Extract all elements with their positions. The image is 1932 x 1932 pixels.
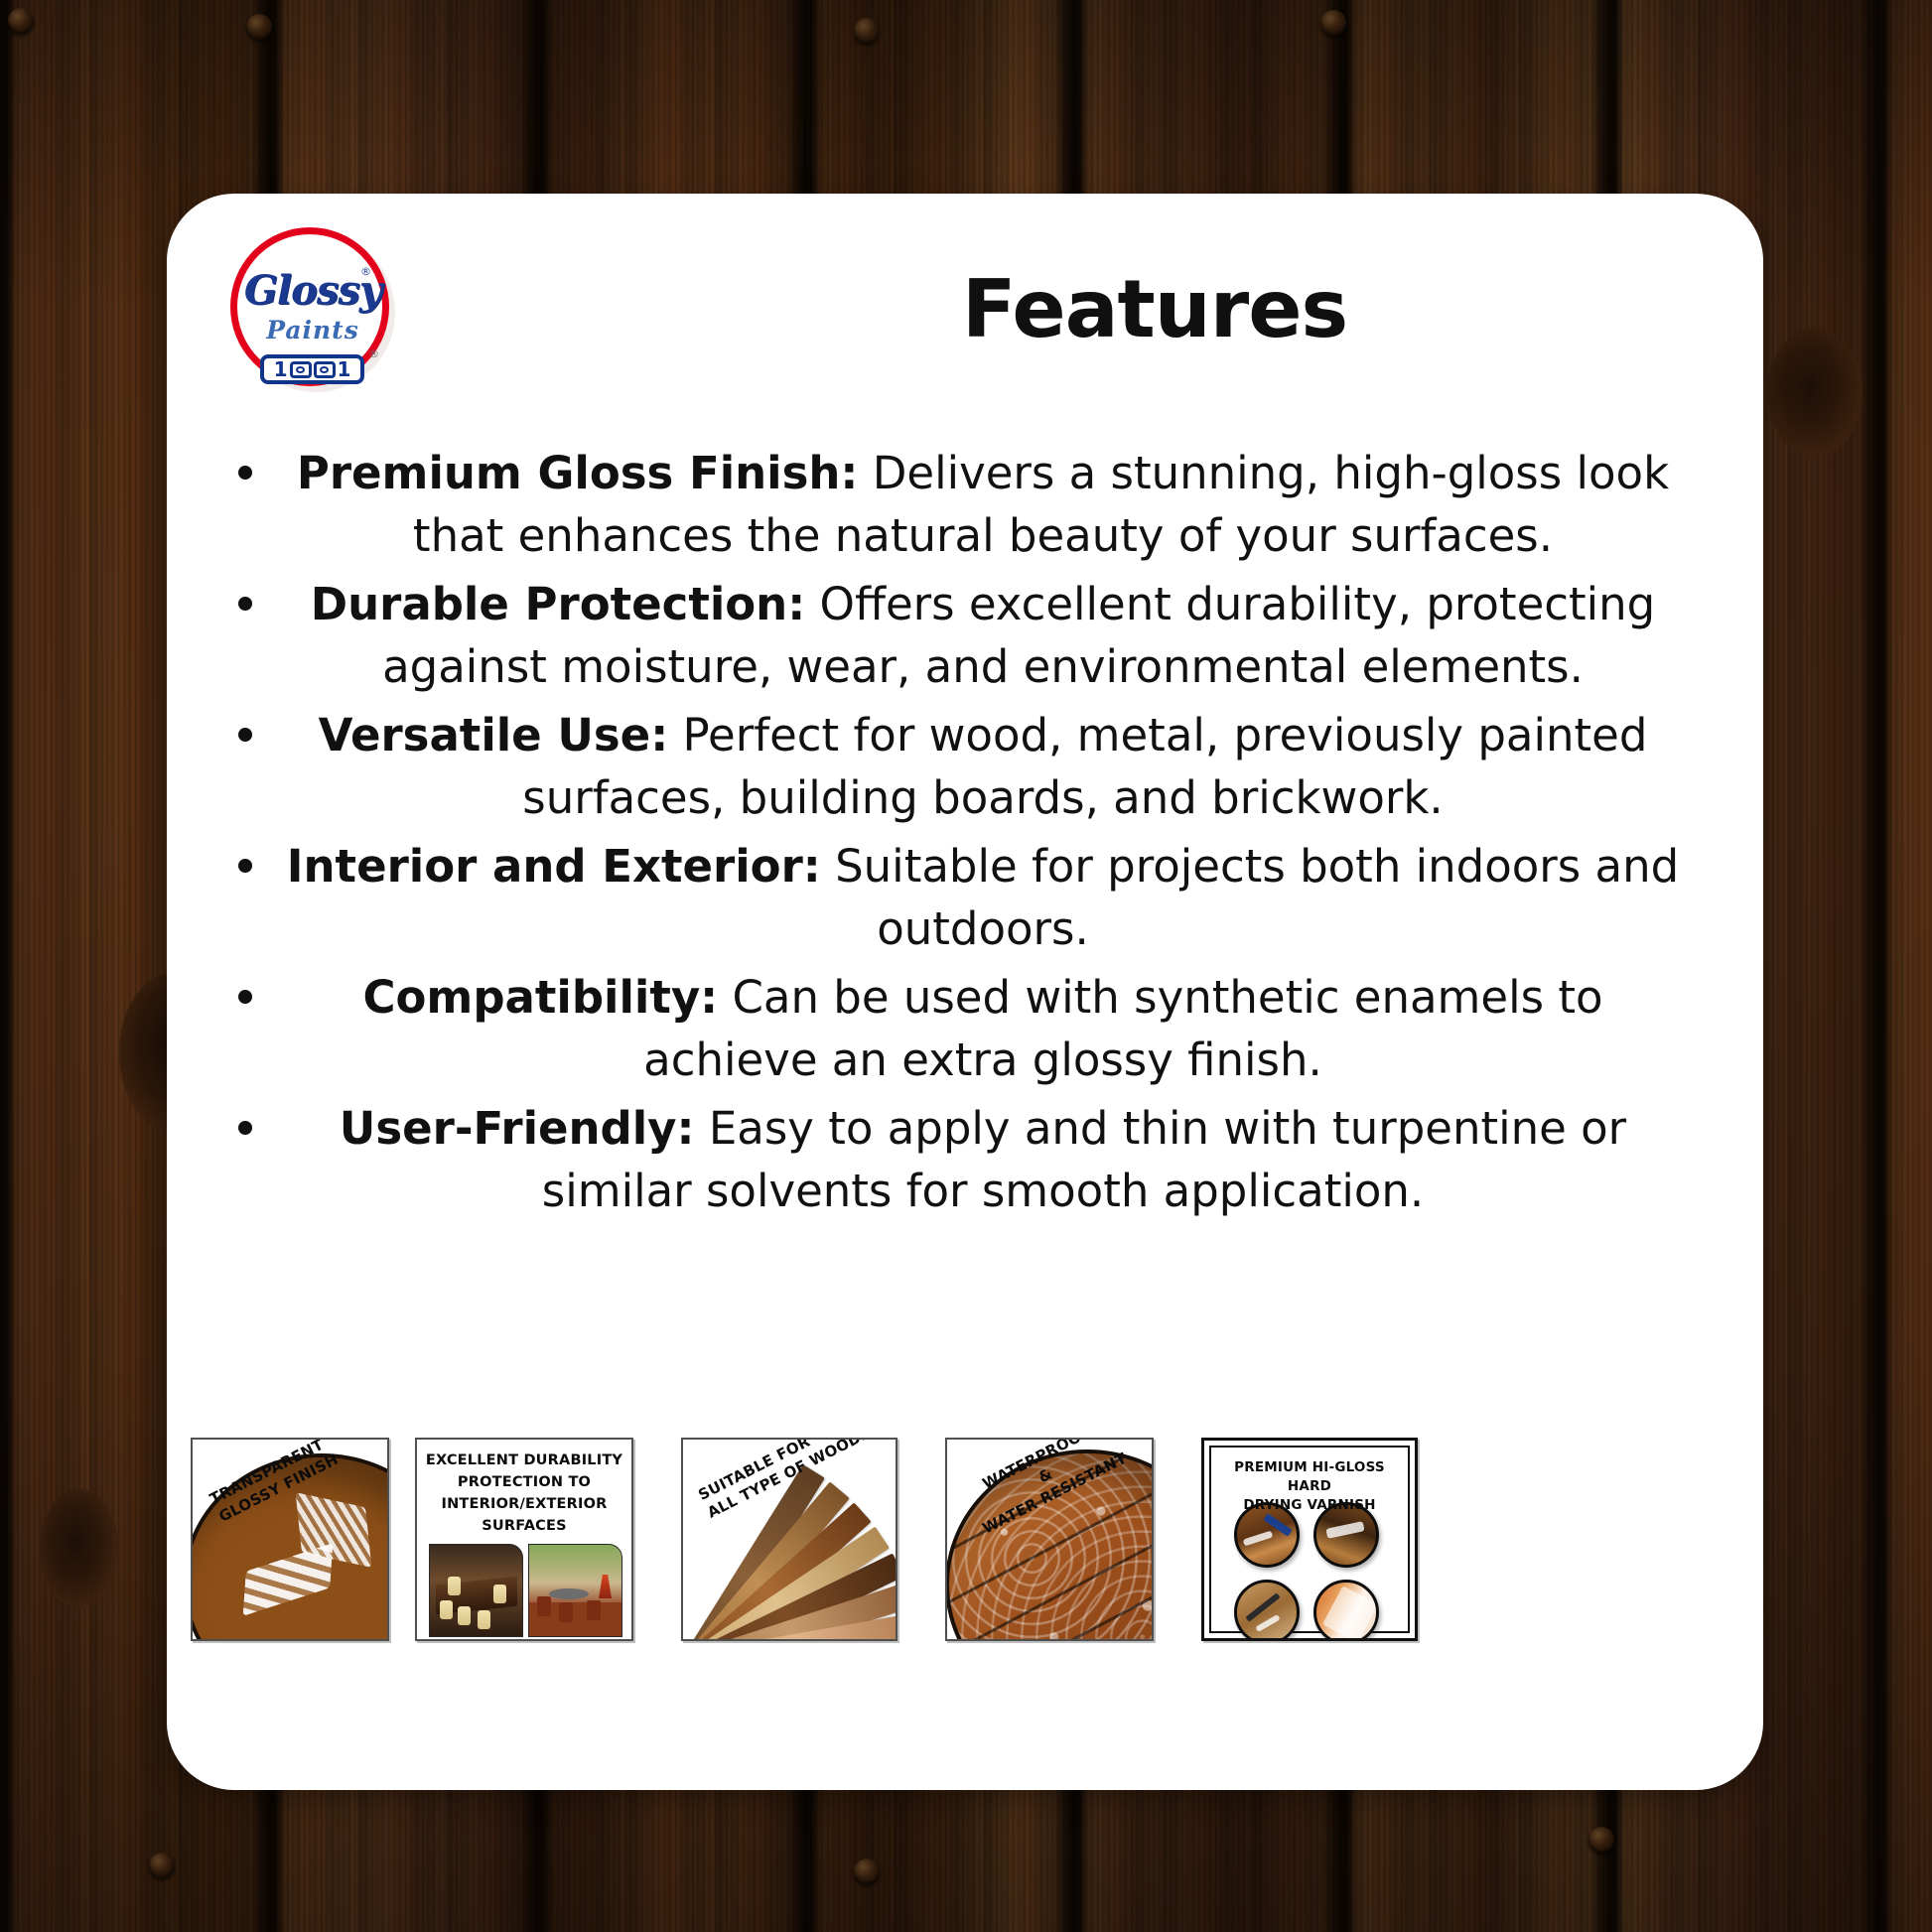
- wood-knot: [1767, 328, 1863, 457]
- feature-item: Versatile Use: Perfect for wood, metal, …: [203, 704, 1727, 829]
- feature-lead: Durable Protection:: [311, 578, 805, 630]
- bullet-icon: [238, 728, 252, 742]
- logo-wordmark: Glossy: [204, 267, 422, 314]
- bullet-icon: [238, 1121, 252, 1135]
- feature-item: Compatibility: Can be used with syntheti…: [203, 966, 1727, 1091]
- wood-nail: [854, 18, 880, 44]
- badge-eye-icon-1: [290, 361, 312, 378]
- feature-lead: Interior and Exterior:: [287, 840, 821, 893]
- bullet-icon: [238, 990, 252, 1004]
- varnish-application-image-4: [1313, 1580, 1379, 1641]
- feature-lead: Compatibility:: [362, 971, 718, 1024]
- feature-text: Can be used with synthetic enamels to ac…: [643, 971, 1602, 1086]
- wood-nail: [8, 8, 34, 34]
- page-title: Features: [584, 263, 1725, 355]
- panel-transparent-glossy-finish: TRANSPARENT GLOSSY FINISH: [191, 1438, 389, 1641]
- feature-text: Easy to apply and thin with turpentine o…: [542, 1102, 1626, 1217]
- logo-stage: Glossy ® Paints 1 1 ®: [204, 204, 422, 417]
- wood-nail: [854, 1859, 880, 1884]
- product-panel-strip: TRANSPARENT GLOSSY FINISH EXCELLENT DURA…: [185, 1438, 1745, 1641]
- features-list: Premium Gloss Finish: Delivers a stunnin…: [203, 442, 1727, 1228]
- logo-registered-mark-bottom: ®: [368, 347, 379, 360]
- wood-nail: [1588, 1827, 1614, 1853]
- wood-nail: [246, 14, 272, 40]
- interior-furniture-image: [429, 1544, 523, 1637]
- badge-eye-icon-2: [314, 361, 336, 378]
- panel-excellent-durability: EXCELLENT DURABILITY PROTECTION TO INTER…: [415, 1438, 633, 1641]
- varnish-application-image-3: [1234, 1580, 1300, 1641]
- logo-1001-badge: 1 1: [260, 354, 364, 384]
- panel-label: PREMIUM HI-GLOSS HARD DRYING VARNISH: [1214, 1458, 1405, 1515]
- badge-digit-right: 1: [338, 359, 351, 379]
- feature-text: Suitable for projects both indoors and o…: [821, 840, 1679, 955]
- feature-item: Durable Protection: Offers excellent dur…: [203, 573, 1727, 698]
- content-card: Glossy ® Paints 1 1 ® Features Premium G…: [167, 194, 1763, 1790]
- bullet-icon: [238, 466, 252, 480]
- exterior-furniture-image: [528, 1544, 622, 1637]
- panel-label: EXCELLENT DURABILITY PROTECTION TO INTER…: [423, 1449, 625, 1537]
- feature-text: Perfect for wood, metal, previously pain…: [522, 709, 1647, 824]
- panel-waterproof-water-resistant: WATERPROOF & WATER RESISTANT: [945, 1438, 1154, 1641]
- bullet-icon: [238, 859, 252, 873]
- feature-lead: Versatile Use:: [319, 709, 669, 761]
- panel-suitable-for-all-woods: SUITABLE FOR ALL TYPE OF WOODS: [681, 1438, 897, 1641]
- logo-subwordmark: Paints: [204, 316, 422, 345]
- feature-lead: User-Friendly:: [340, 1102, 695, 1155]
- feature-lead: Premium Gloss Finish:: [297, 447, 859, 499]
- wood-knot: [40, 1489, 119, 1608]
- panel-premium-hi-gloss-varnish: PREMIUM HI-GLOSS HARD DRYING VARNISH: [1201, 1438, 1418, 1641]
- feature-item: Interior and Exterior: Suitable for proj…: [203, 835, 1727, 960]
- bullet-icon: [238, 597, 252, 611]
- wood-nail: [1320, 10, 1346, 36]
- logo-registered-mark-top: ®: [360, 265, 371, 278]
- wood-nail: [149, 1853, 175, 1878]
- brand-logo: Glossy ® Paints 1 1 ®: [204, 204, 422, 417]
- badge-digit-left: 1: [274, 359, 288, 379]
- feature-item: Premium Gloss Finish: Delivers a stunnin…: [203, 442, 1727, 567]
- feature-item: User-Friendly: Easy to apply and thin wi…: [203, 1097, 1727, 1222]
